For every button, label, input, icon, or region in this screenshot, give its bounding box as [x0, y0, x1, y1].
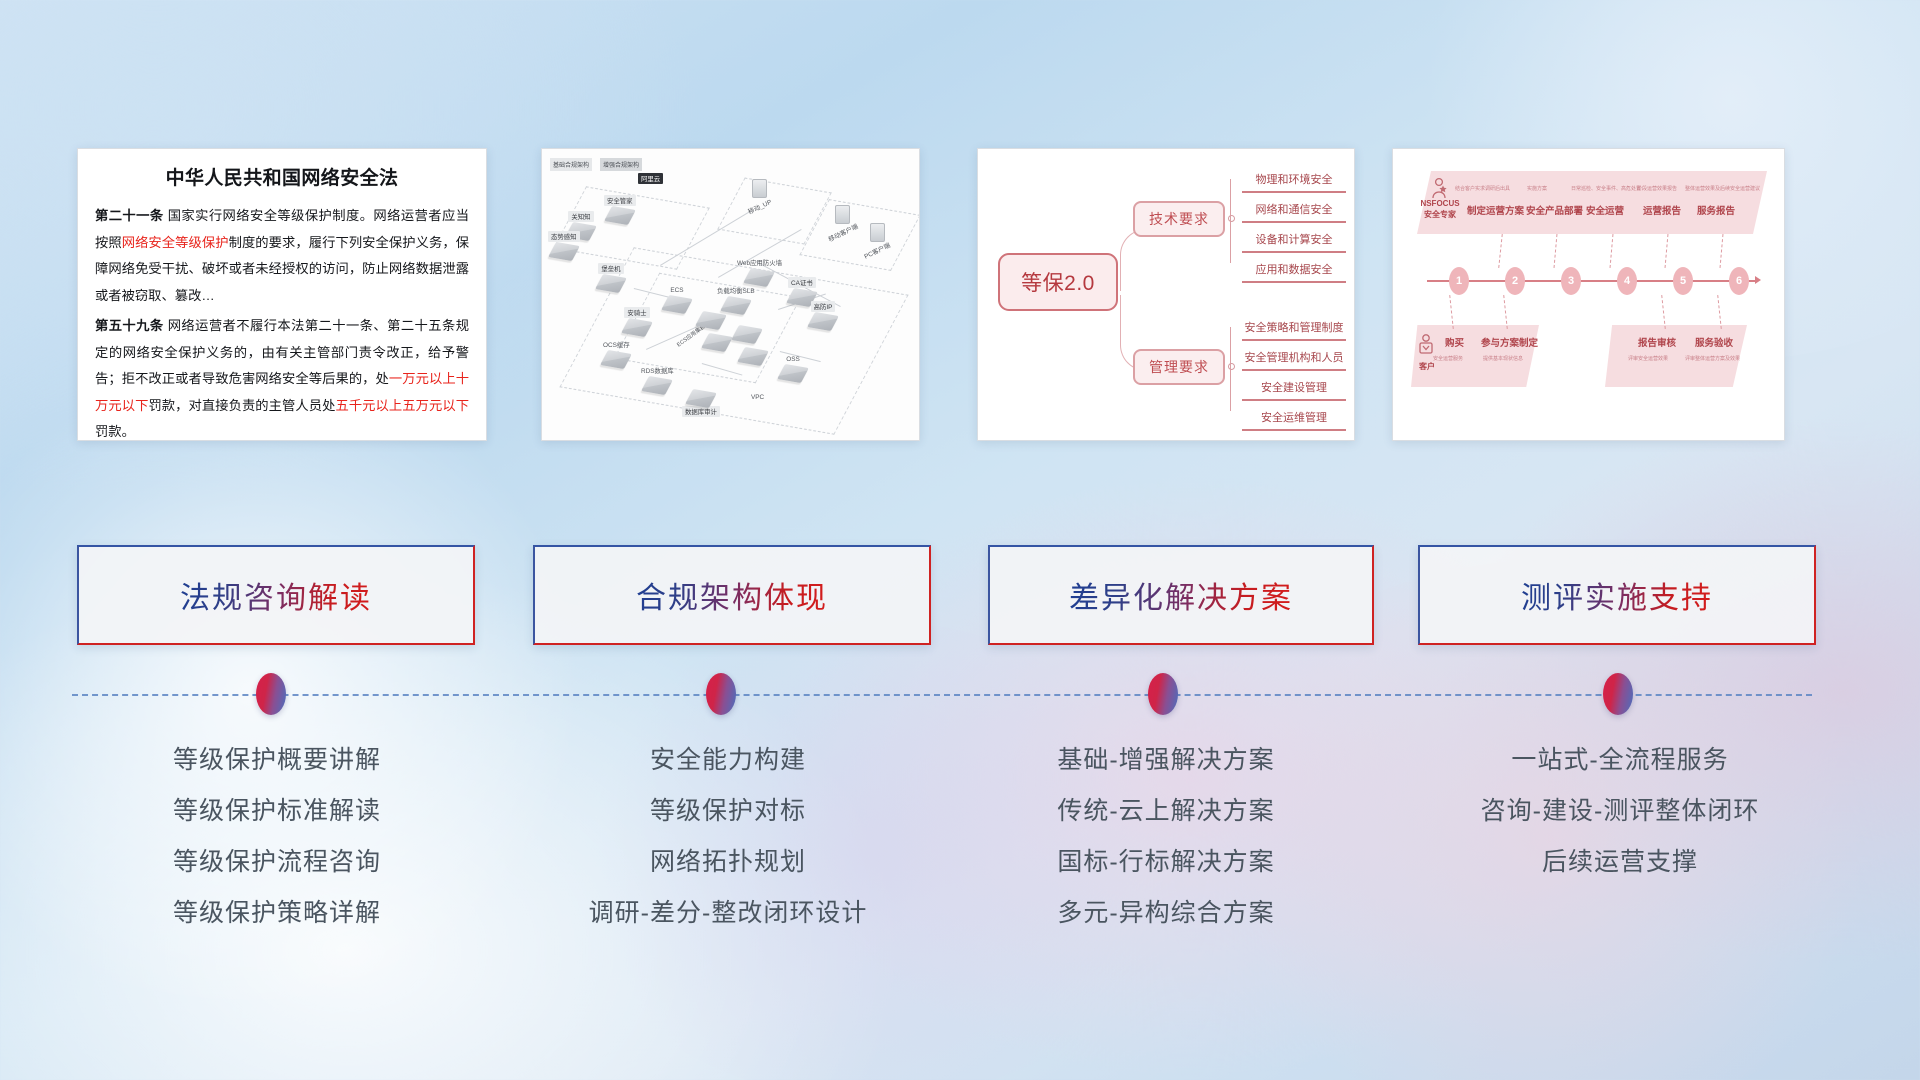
arch-monitor-icon — [752, 179, 767, 198]
timeline-top-title-1: 制定运营方案 — [1467, 203, 1524, 217]
list-item: 多元-异构综合方案 — [966, 888, 1366, 939]
timeline-top-sub-1: 结合客户实求调研后出具 — [1455, 185, 1510, 192]
timeline-bottom-sub-1: 安全运营服务 — [1433, 355, 1463, 362]
timeline-top-title-5: 服务报告 — [1697, 203, 1735, 217]
service-timeline: NSFOCUS 安全专家 客户 结合客户实求调研后出具 制定运营方案 实施方案 … — [1393, 149, 1784, 440]
arch-label-ca-cert: CA证书 — [788, 277, 816, 288]
timeline-stem-b1 — [1449, 295, 1454, 329]
timeline-bottom-title-2: 参与方案制定 — [1481, 335, 1538, 349]
mindmap-leaf-underline — [1242, 399, 1346, 401]
arch-cube-icon — [777, 364, 809, 383]
list-item: 等级保护策略详解 — [77, 888, 477, 939]
mindmap-branch-technical[interactable]: 技术要求 — [1133, 201, 1225, 237]
arch-cube-icon — [661, 295, 693, 314]
arch-tab-enhanced[interactable]: 增强合规架构 — [600, 158, 642, 171]
mindmap-leaf-underline — [1242, 369, 1346, 371]
arch-cube-icon — [720, 296, 752, 315]
mindmap-edge-tech — [1120, 229, 1160, 291]
card-law-document[interactable]: 中华人民共和国网络安全法 第二十一条 国家实行网络安全等级保护制度。网络运营者应… — [77, 148, 487, 441]
mindmap-leaf-underline — [1242, 251, 1346, 253]
arch-cube-icon — [621, 318, 653, 337]
list-item: 传统-云上解决方案 — [966, 786, 1366, 837]
list-item: 等级保护标准解读 — [77, 786, 477, 837]
mindmap-leaf-underline — [1242, 429, 1346, 431]
list-item: 等级保护概要讲解 — [77, 735, 477, 786]
mindmap-bracket-mgmt — [1230, 327, 1240, 411]
arch-cube-icon — [731, 325, 763, 344]
preview-cards-row: 中华人民共和国网络安全法 第二十一条 国家实行网络安全等级保护制度。网络运营者应… — [0, 148, 1920, 448]
arch-cube-icon — [600, 350, 632, 369]
rail-dot-3[interactable] — [1148, 673, 1178, 715]
arch-cube-icon — [737, 347, 769, 366]
law-content: 中华人民共和国网络安全法 第二十一条 国家实行网络安全等级保护制度。网络运营者应… — [78, 149, 486, 441]
timeline-bottom-title-1: 购买 — [1445, 335, 1464, 349]
arch-label-waf: Web应用防火墙 — [734, 257, 785, 268]
heading-box-differentiated-solution[interactable]: 差异化解决方案 — [988, 545, 1374, 645]
law-paragraph-59: 第五十九条 网络运营者不履行本法第二十一条、第二十五条规定的网络安全保护义务的，… — [95, 313, 469, 441]
mindmap-leaf-underline — [1242, 339, 1346, 341]
list-item: 安全能力构建 — [528, 735, 928, 786]
timeline-stem-3 — [1554, 234, 1558, 268]
rail-dot-4[interactable] — [1603, 673, 1633, 715]
law-article-number-21: 第二十一条 — [95, 208, 164, 223]
timeline-node-1[interactable]: 1 — [1449, 267, 1469, 295]
mindmap-leaf-label: 安全运维管理 — [1242, 409, 1346, 429]
mindmap-leaf-underline — [1242, 281, 1346, 283]
heading-label: 差异化解决方案 — [1069, 573, 1293, 617]
timeline-stem-2 — [1498, 234, 1503, 268]
mindmap-leaf-policy[interactable]: 安全策略和管理制度 — [1242, 319, 1346, 341]
headings-row: 法规咨询解读 合规架构体现 差异化解决方案 测评实施支持 — [0, 545, 1920, 647]
arch-label-ecs: ECS — [667, 286, 686, 295]
arch-node-slb[interactable]: 负载均衡SLB — [714, 285, 758, 313]
mindmap: 等保2.0 技术要求 物理和环境安全 网络和通信安全 设备和计算安全 应用和数据… — [978, 149, 1354, 440]
vendor-role-label: 安全专家 — [1419, 209, 1461, 220]
list-item: 等级保护流程咨询 — [77, 837, 477, 888]
arch-monitor-icon — [835, 205, 850, 224]
law-text-59c: 罚款。 — [95, 424, 135, 439]
timeline-top-title-2: 安全产品部署 — [1526, 203, 1583, 217]
mindmap-leaf-underline — [1242, 191, 1346, 193]
arch-node-mobile-up[interactable]: 移动_UP — [744, 179, 775, 212]
timeline-stem-5 — [1665, 234, 1669, 268]
timeline-node-3[interactable]: 3 — [1561, 267, 1581, 295]
mindmap-leaf-org[interactable]: 安全管理机构和人员 — [1242, 349, 1346, 371]
timeline-top-title-3: 安全运营 — [1586, 203, 1624, 217]
arch-node-ecs[interactable]: ECS — [664, 286, 690, 312]
arch-tab-basic[interactable]: 基础合规架构 — [550, 158, 592, 171]
bullet-column-3: 基础-增强解决方案 传统-云上解决方案 国标-行标解决方案 多元-异构综合方案 — [966, 735, 1366, 939]
list-item: 调研-差分-整改闭环设计 — [528, 888, 928, 939]
timeline-bottom-sub-4: 评审整体运营方案及效果 — [1685, 355, 1740, 362]
list-item: 咨询-建设-测评整体闭环 — [1420, 786, 1820, 837]
bullet-column-4: 一站式-全流程服务 咨询-建设-测评整体闭环 后续运营支撑 — [1420, 735, 1820, 888]
timeline-stem-b3 — [1661, 295, 1666, 329]
heading-label: 测评实施支持 — [1521, 573, 1713, 617]
mindmap-leaf-label: 应用和数据安全 — [1242, 261, 1346, 281]
arch-node-ocs-cache[interactable]: OCS缓存 — [600, 339, 633, 367]
timeline-node-2[interactable]: 2 — [1505, 267, 1525, 295]
list-item: 网络拓扑规划 — [528, 837, 928, 888]
timeline-bottom-title-3: 报告审核 — [1638, 335, 1676, 349]
timeline-stem-4 — [1610, 234, 1614, 268]
arch-label-db-audit: 数据库审计 — [682, 406, 720, 417]
mindmap-leaf-construction[interactable]: 安全建设管理 — [1242, 379, 1346, 401]
list-item: 一站式-全流程服务 — [1420, 735, 1820, 786]
timeline-bottom-title-4: 服务验收 — [1695, 335, 1733, 349]
arch-label-rds: RDS数据库 — [638, 365, 677, 376]
timeline-top-sub-3: 日常巡检、安全事件、高危处置 — [1571, 185, 1641, 192]
vendor-name-label: NSFOCUS — [1419, 199, 1461, 208]
arch-node-anti-ddos-ip[interactable]: 高防IP — [810, 301, 836, 329]
card-mindmap-dengbao[interactable]: 等保2.0 技术要求 物理和环境安全 网络和通信安全 设备和计算安全 应用和数据… — [977, 148, 1355, 441]
arch-node-vpc[interactable]: VPC — [748, 393, 767, 402]
arch-label-perception-a: 关知知 — [568, 211, 593, 222]
mindmap-leaf-device[interactable]: 设备和计算安全 — [1242, 231, 1346, 253]
arch-label-anti-ddos-ip: 高防IP — [811, 301, 836, 312]
timeline-stem-b4 — [1717, 295, 1722, 329]
list-item: 基础-增强解决方案 — [966, 735, 1366, 786]
law-title: 中华人民共和国网络安全法 — [95, 163, 469, 190]
bullet-column-1: 等级保护概要讲解 等级保护标准解读 等级保护流程咨询 等级保护策略详解 — [77, 735, 477, 939]
mindmap-leaf-operation[interactable]: 安全运维管理 — [1242, 409, 1346, 431]
card-service-timeline[interactable]: NSFOCUS 安全专家 客户 结合客户实求调研后出具 制定运营方案 实施方案 … — [1392, 148, 1785, 441]
mindmap-leaf-label: 网络和通信安全 — [1242, 201, 1346, 221]
arch-label-ocs-cache: OCS缓存 — [600, 339, 633, 350]
list-item: 等级保护对标 — [528, 786, 928, 837]
arch-cube-icon — [604, 206, 636, 225]
law-paragraph-21: 第二十一条 国家实行网络安全等级保护制度。网络运营者应当按照网络安全等级保护制度… — [95, 203, 469, 309]
timeline-axis — [1427, 280, 1757, 282]
arch-node-ecs-5[interactable] — [740, 347, 766, 364]
arch-monitor-icon — [870, 223, 885, 242]
architecture-diagram: 基础合规架构 增强合规架构 阿里云 安全管家 — [542, 149, 919, 440]
mindmap-leaf-label: 安全策略和管理制度 — [1242, 319, 1346, 339]
arch-cube-icon — [641, 376, 673, 395]
law-highlight-21: 网络安全等级保护 — [122, 235, 229, 250]
arch-node-security-butler[interactable]: 安全管家 — [604, 195, 636, 223]
card-cloud-architecture[interactable]: 基础合规架构 增强合规架构 阿里云 安全管家 — [541, 148, 920, 441]
arch-node-ecs-3[interactable] — [704, 333, 730, 350]
vendor-person-icon — [1429, 177, 1449, 199]
arch-label-oss: OSS — [783, 355, 803, 364]
arch-label-anqishi: 安骑士 — [624, 307, 649, 318]
arch-node-oss[interactable]: OSS — [780, 355, 806, 381]
arch-node-ecs-4[interactable] — [734, 325, 760, 342]
arch-node-bastion[interactable]: 堡垒机 — [598, 263, 624, 291]
timeline-bottom-sub-3: 评审安全运营效果 — [1628, 355, 1668, 362]
arch-node-waf[interactable]: Web应用防火墙 — [734, 257, 785, 285]
timeline-node-4[interactable]: 4 — [1617, 267, 1637, 295]
arch-label-bastion: 堡垒机 — [598, 263, 623, 274]
heading-box-assessment-support[interactable]: 测评实施支持 — [1418, 545, 1816, 645]
heading-label: 法规咨询解读 — [180, 573, 372, 617]
timeline-top-sub-2: 实施方案 — [1527, 185, 1547, 192]
timeline-arrow-icon — [1755, 276, 1761, 284]
mindmap-leaf-label: 物理和环境安全 — [1242, 171, 1346, 191]
law-article-number-59: 第五十九条 — [95, 318, 164, 333]
rail-dot-1[interactable] — [256, 673, 286, 715]
arch-cube-icon — [595, 274, 627, 293]
timeline-stem-6 — [1720, 234, 1724, 268]
rail-dot-2[interactable] — [706, 673, 736, 715]
heading-box-compliance-architecture[interactable]: 合规架构体现 — [533, 545, 931, 645]
arch-cube-icon — [807, 312, 839, 331]
law-text-59b: 罚款，对直接负责的主管人员处 — [148, 398, 335, 413]
timeline-top-sub-4: 阶段运营效果报告 — [1637, 185, 1677, 192]
arch-node-aliyun[interactable]: 阿里云 — [638, 173, 663, 184]
timeline-bottom-sub-2: 提供基本现状信息 — [1483, 355, 1523, 362]
arch-node-anqishi[interactable]: 安骑士 — [624, 307, 650, 335]
timeline-top-title-4: 运营报告 — [1643, 203, 1681, 217]
arch-label-aliyun: 阿里云 — [638, 173, 663, 184]
arch-cube-icon — [548, 242, 580, 261]
timeline-node-5[interactable]: 5 — [1673, 267, 1693, 295]
law-highlight-59b: 五千元以上五万元以下 — [335, 398, 469, 413]
arch-node-situation-awareness[interactable]: 态势感知 — [548, 231, 580, 259]
mindmap-leaf-label: 安全建设管理 — [1242, 379, 1346, 399]
arch-cube-icon — [701, 333, 733, 352]
arch-node-db-audit[interactable]: 数据库审计 — [682, 389, 720, 417]
heading-box-regulation-consulting[interactable]: 法规咨询解读 — [77, 545, 475, 645]
mindmap-leaf-application[interactable]: 应用和数据安全 — [1242, 261, 1346, 283]
arch-label-vpc: VPC — [748, 393, 767, 402]
mindmap-bracket-tech — [1230, 179, 1240, 263]
list-item: 后续运营支撑 — [1420, 837, 1820, 888]
customer-label: 客户 — [1413, 361, 1441, 372]
arch-node-ecs-2[interactable] — [698, 311, 724, 328]
mindmap-branch-management[interactable]: 管理要求 — [1133, 349, 1225, 385]
list-item: 国标-行标解决方案 — [966, 837, 1366, 888]
arch-node-rds[interactable]: RDS数据库 — [638, 365, 677, 393]
mindmap-leaf-label: 设备和计算安全 — [1242, 231, 1346, 251]
arch-label-situation-awareness: 态势感知 — [548, 231, 580, 242]
timeline-top-sub-5: 整体运营效果及后续安全运营建议 — [1685, 185, 1760, 192]
timeline-node-6[interactable]: 6 — [1729, 267, 1749, 295]
arch-cube-icon — [744, 268, 776, 287]
arch-label-security-butler: 安全管家 — [604, 195, 636, 206]
arch-node-pc-client[interactable]: PC客户端 — [860, 223, 894, 256]
mindmap-root-node[interactable]: 等保2.0 — [998, 253, 1118, 311]
bullet-column-2: 安全能力构建 等级保护对标 网络拓扑规划 调研-差分-整改闭环设计 — [528, 735, 928, 939]
mindmap-leaf-underline — [1242, 221, 1346, 223]
timeline-rail — [72, 694, 1812, 696]
mindmap-leaf-label: 安全管理机构和人员 — [1242, 349, 1346, 369]
timeline-stem-b2 — [1503, 295, 1508, 329]
heading-label: 合规架构体现 — [636, 573, 828, 617]
arch-cube-icon — [695, 311, 727, 330]
arch-node-mobile-client[interactable]: 移动客户端 — [824, 205, 862, 238]
arch-label-slb: 负载均衡SLB — [714, 285, 758, 296]
mindmap-leaf-physical[interactable]: 物理和环境安全 — [1242, 171, 1346, 193]
mindmap-leaf-network[interactable]: 网络和通信安全 — [1242, 201, 1346, 223]
